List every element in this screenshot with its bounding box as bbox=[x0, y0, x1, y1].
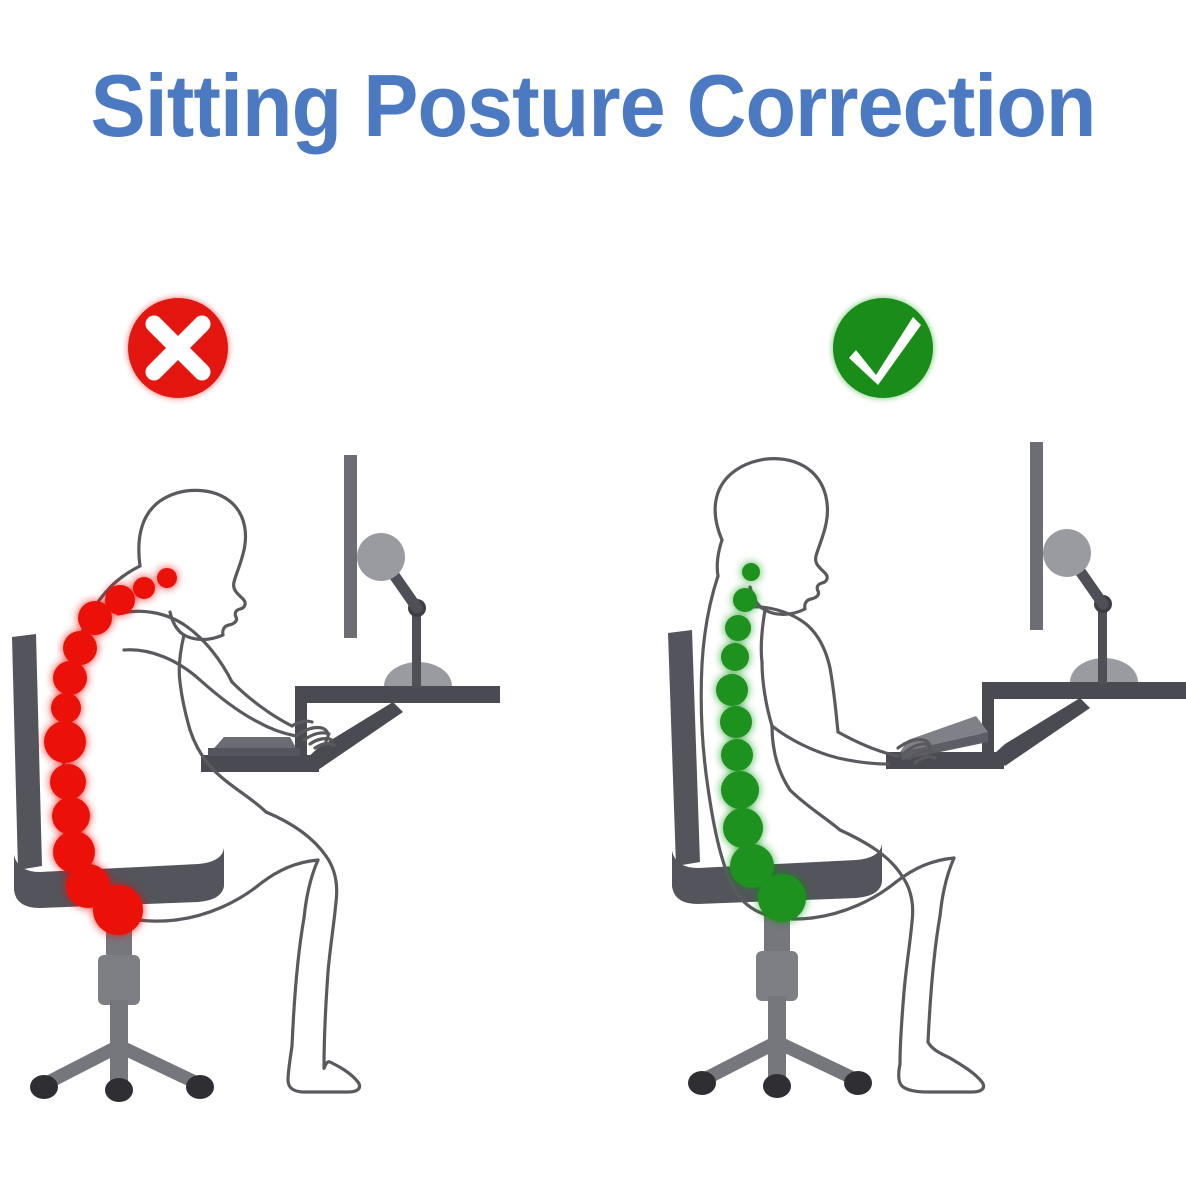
cross-icon bbox=[126, 296, 230, 400]
infographic-root: Sitting Posture Correction bbox=[0, 0, 1186, 1186]
monitor-bad bbox=[344, 455, 452, 688]
panel-bad-posture bbox=[12, 296, 500, 1102]
panel-good-posture bbox=[668, 296, 1186, 1098]
desk-bad bbox=[295, 686, 500, 770]
chair-bad bbox=[12, 634, 224, 1102]
keyboard-tray-bad bbox=[201, 755, 319, 772]
posture-diagram bbox=[0, 0, 1186, 1186]
desk-good bbox=[982, 682, 1186, 766]
monitor-good bbox=[1030, 442, 1138, 684]
keyboard-bad bbox=[208, 737, 300, 756]
check-icon bbox=[831, 296, 935, 400]
